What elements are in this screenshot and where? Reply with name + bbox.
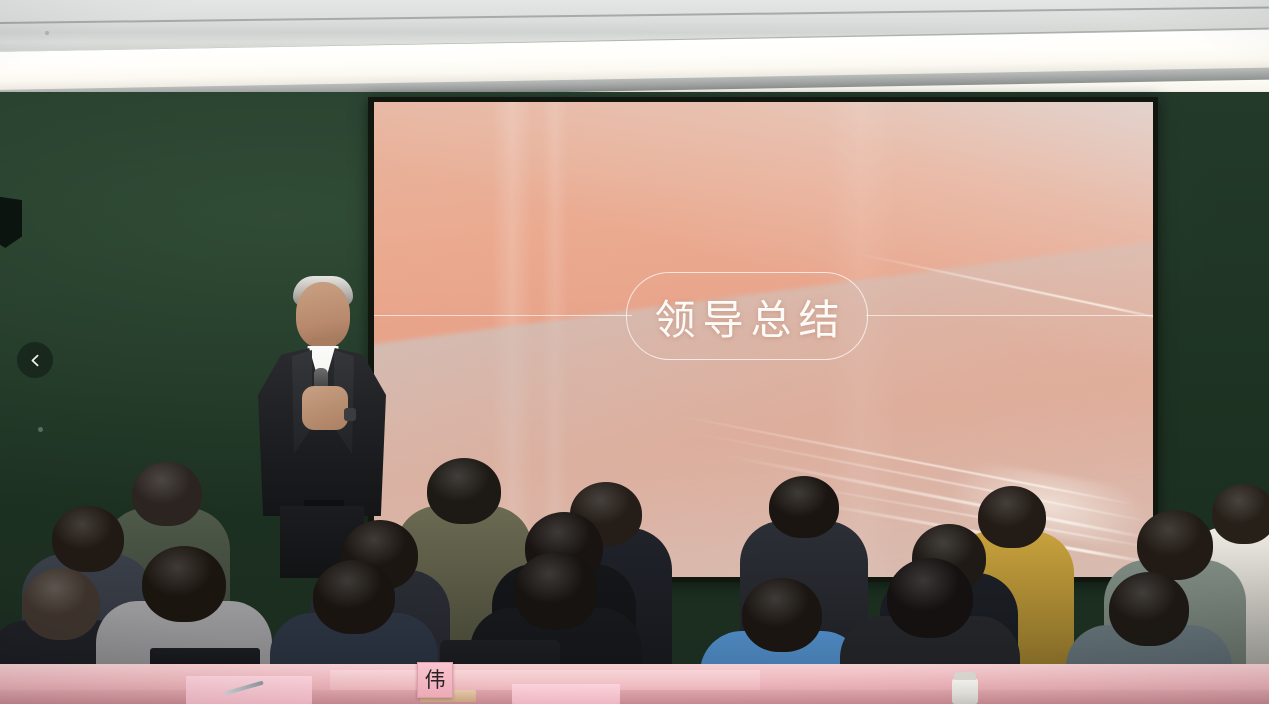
wall-speaker-unit [0,196,22,248]
attendee-head [742,578,822,652]
attendee-head [22,568,100,640]
previous-slide-button[interactable] [17,342,53,378]
desk-nameplate: 伟 [417,662,453,698]
attendee-head [427,458,501,524]
slide-title: 领导总结 [648,286,847,346]
attendee-head [1109,572,1189,646]
desk-paper [186,676,312,704]
slide-title-pill: 领导总结 [626,272,868,360]
water-bottle-cap [954,672,976,680]
water-bottle [952,678,978,704]
attendee-head [313,560,395,634]
chevron-left-icon [28,353,43,368]
attendee-head [142,546,226,622]
nav-hint-dot [38,427,43,432]
attendee-head [1137,510,1213,580]
presenter-hands [302,386,348,430]
slide-rule-right [866,315,1153,316]
ceiling-fixture-dot [45,31,49,35]
attendee-head [514,552,598,630]
nameplate-text: 伟 [425,670,446,691]
desk-paper [512,684,620,704]
presenter-wristwatch [344,408,356,421]
attendee-head [769,476,839,538]
conference-room-photo: 领导总结 伟 [0,0,1269,704]
attendee-head [887,558,973,638]
slide-rule-left [374,315,632,316]
ceiling-seam [0,6,1269,24]
